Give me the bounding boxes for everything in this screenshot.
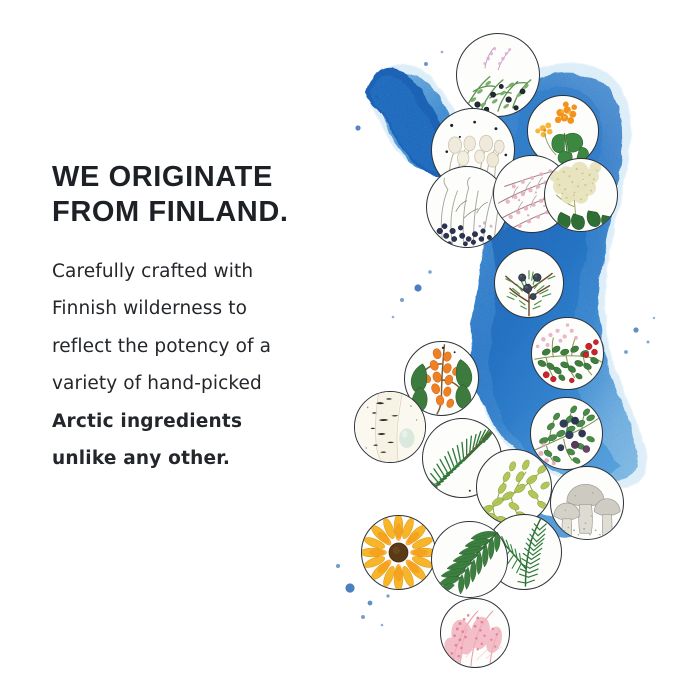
- mushrooms-circle: [550, 466, 624, 540]
- spruce-needles-upper: [518, 524, 546, 583]
- birch-leaves-circle: [476, 449, 552, 525]
- text-panel: WE ORIGINATE FROM FINLAND. Carefully cra…: [52, 160, 352, 478]
- juniper-circle: [494, 248, 564, 318]
- crowberry-heather-circle: [456, 33, 540, 117]
- headline-line-2: FROM FINLAND.: [52, 195, 352, 230]
- body-copy: Carefully crafted with Finnish wildernes…: [52, 253, 352, 478]
- body-line-4: variety of hand-picked: [52, 365, 352, 403]
- calendula-circle: [361, 515, 436, 590]
- cloudberry-fruit: [555, 101, 577, 123]
- frond-leaflets: [438, 530, 500, 595]
- headline-line-1: WE ORIGINATE: [52, 160, 352, 195]
- elderflower-circle: [544, 158, 618, 232]
- bilberry-circle: [530, 397, 603, 470]
- juniper-berries: [519, 274, 542, 300]
- body-line-3: reflect the potency of a: [52, 328, 352, 366]
- page-title: WE ORIGINATE FROM FINLAND.: [52, 160, 352, 231]
- meadowsweet-plumes: [441, 616, 505, 667]
- body-line-1: Carefully crafted with: [52, 253, 352, 291]
- poster-root: WE ORIGINATE FROM FINLAND. Carefully cra…: [0, 0, 679, 679]
- pink-meadowsweet-circle: [440, 598, 510, 668]
- lingonberry-circle: [531, 317, 604, 390]
- willowherb-circle: [431, 521, 508, 598]
- body-line-2: Finnish wilderness to: [52, 290, 352, 328]
- cloudberry-flower: [535, 122, 552, 137]
- body-line-5: Arctic ingredients: [52, 403, 352, 441]
- body-line-6: unlike any other.: [52, 440, 352, 478]
- elderflower-umbel: [549, 162, 601, 204]
- lingonberry-flowers: [536, 323, 578, 348]
- birch-sap-drop: [399, 428, 414, 448]
- birch-bark-circle: [354, 391, 426, 463]
- finland-map-illustration: [330, 0, 679, 679]
